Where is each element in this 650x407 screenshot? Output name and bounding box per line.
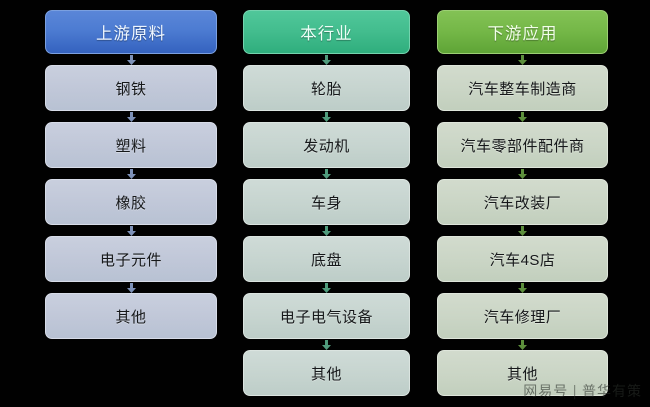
column-industry: 本行业 轮胎 发动机 车身 <box>243 0 410 396</box>
node-item[interactable]: 其他 <box>243 350 410 396</box>
column-header-label: 本行业 <box>300 20 353 44</box>
arrow-down-icon <box>437 111 608 122</box>
column-downstream: 下游应用 汽车整车制造商 汽车零部件配件商 汽车改装厂 <box>437 0 608 396</box>
node-label: 橡胶 <box>115 192 146 213</box>
watermark-source: 网易号 <box>523 384 568 400</box>
arrow-down-icon <box>437 339 608 350</box>
column-upstream: 上游原料 钢铁 塑料 橡胶 <box>45 0 217 339</box>
arrow-down-icon <box>243 168 410 179</box>
watermark-separator: | <box>572 384 578 400</box>
arrow-down-icon <box>243 111 410 122</box>
node-label: 其他 <box>311 363 342 384</box>
arrow-down-icon <box>45 282 217 293</box>
node-item[interactable]: 其他 <box>45 293 217 339</box>
node-item[interactable]: 钢铁 <box>45 65 217 111</box>
node-label: 汽车改装厂 <box>484 192 562 213</box>
node-label: 轮胎 <box>311 78 342 99</box>
node-label: 电子电气设备 <box>280 306 373 327</box>
node-item[interactable]: 底盘 <box>243 236 410 282</box>
arrow-down-icon <box>243 282 410 293</box>
node-item[interactable]: 汽车4S店 <box>437 236 608 282</box>
node-label: 车身 <box>311 192 342 213</box>
node-item[interactable]: 车身 <box>243 179 410 225</box>
node-label: 汽车整车制造商 <box>468 78 577 99</box>
node-item[interactable]: 电子电气设备 <box>243 293 410 339</box>
node-item[interactable]: 电子元件 <box>45 236 217 282</box>
arrow-down-icon <box>45 168 217 179</box>
node-item[interactable]: 汽车整车制造商 <box>437 65 608 111</box>
column-header-downstream[interactable]: 下游应用 <box>437 10 608 54</box>
node-item[interactable]: 橡胶 <box>45 179 217 225</box>
column-header-upstream[interactable]: 上游原料 <box>45 10 217 54</box>
watermark-author: 普华有策 <box>582 384 642 400</box>
node-item[interactable]: 发动机 <box>243 122 410 168</box>
node-label: 汽车4S店 <box>490 249 556 270</box>
node-label: 汽车修理厂 <box>484 306 562 327</box>
node-label: 发动机 <box>303 135 350 156</box>
node-item[interactable]: 塑料 <box>45 122 217 168</box>
arrow-down-icon <box>45 225 217 236</box>
arrow-down-icon <box>45 54 217 65</box>
node-item[interactable]: 汽车改装厂 <box>437 179 608 225</box>
node-label: 其他 <box>115 306 146 327</box>
node-label: 底盘 <box>311 249 342 270</box>
arrow-down-icon <box>437 168 608 179</box>
arrow-down-icon <box>437 225 608 236</box>
arrow-down-icon <box>45 111 217 122</box>
arrow-down-icon <box>243 339 410 350</box>
arrow-down-icon <box>243 54 410 65</box>
column-header-label: 下游应用 <box>488 20 558 44</box>
diagram-canvas: 上游原料 钢铁 塑料 橡胶 <box>0 0 650 407</box>
watermark: 网易号|普华有策 <box>523 381 642 401</box>
node-label: 汽车零部件配件商 <box>460 135 584 156</box>
arrow-down-icon <box>243 225 410 236</box>
arrow-down-icon <box>437 54 608 65</box>
node-item[interactable]: 汽车零部件配件商 <box>437 122 608 168</box>
node-label: 电子元件 <box>100 249 162 270</box>
arrow-down-icon <box>437 282 608 293</box>
node-label: 钢铁 <box>115 78 146 99</box>
column-header-industry[interactable]: 本行业 <box>243 10 410 54</box>
column-header-label: 上游原料 <box>96 20 166 44</box>
node-item[interactable]: 轮胎 <box>243 65 410 111</box>
node-label: 塑料 <box>115 135 146 156</box>
node-item[interactable]: 汽车修理厂 <box>437 293 608 339</box>
